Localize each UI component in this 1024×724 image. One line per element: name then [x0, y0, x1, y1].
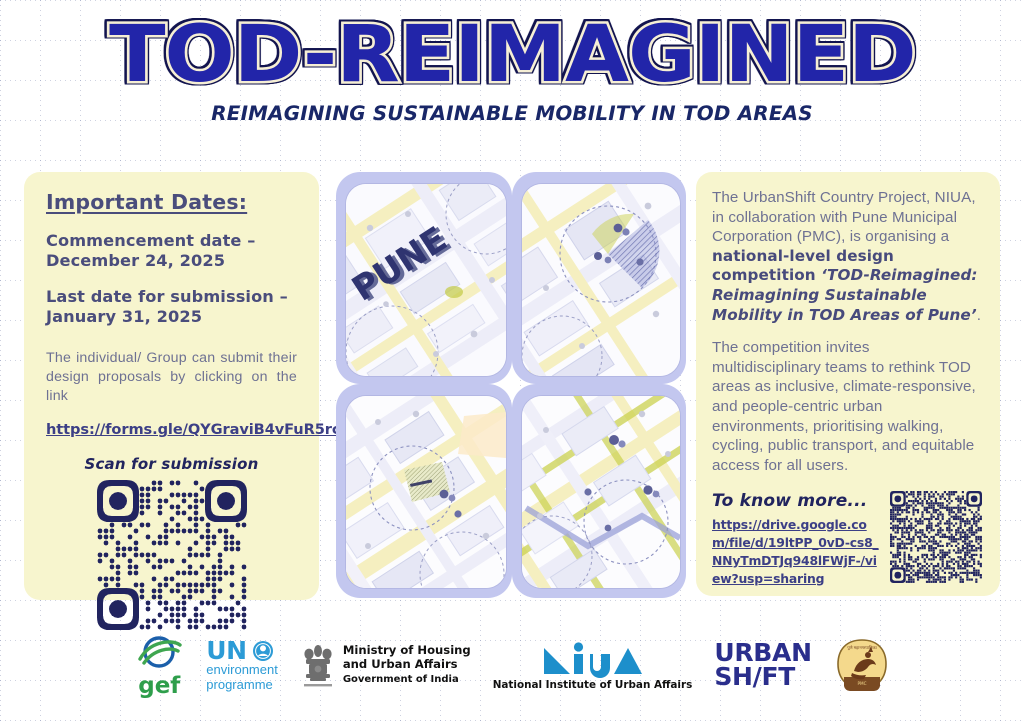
submission-form-qr-code[interactable]: [97, 480, 247, 630]
un-environment-programme-logo: UN environment programme: [206, 638, 278, 692]
about-paragraph-2: The competition invites multidisciplinar…: [712, 338, 982, 475]
tile-green-network-map[interactable]: [522, 396, 680, 588]
know-more-qr-code[interactable]: [890, 491, 982, 583]
tile-street-block-map[interactable]: [346, 396, 506, 588]
important-dates-panel: Important Dates: Commencement date – Dec…: [24, 172, 319, 600]
tod-radius-map-graphic: [522, 184, 680, 376]
submission-instructions: The individual/ Group can submit their d…: [46, 349, 297, 406]
state-emblem-of-india-icon: [300, 639, 336, 691]
pune-isometric-map-graphic: PUNE PUNE: [346, 184, 506, 376]
svg-text:PMC: PMC: [857, 681, 866, 686]
green-network-map-graphic: [522, 396, 680, 588]
gef-logo: gef: [134, 633, 184, 698]
ministry-of-housing-and-urban-affairs-logo: Ministry of Housing and Urban Affairs Go…: [300, 639, 471, 691]
important-dates-heading: Important Dates:: [46, 190, 297, 214]
ministry-line3: Government of India: [343, 674, 471, 686]
poster-header: TOD-REIMAGINED REIMAGINING SUSTAINABLE M…: [0, 18, 1024, 125]
partner-logos-bar: gef UN environment programme: [0, 626, 1024, 704]
un-logo-text: UN: [206, 638, 246, 663]
un-logo-line3: programme: [206, 678, 272, 692]
isometric-map-gallery: PUNE PUNE: [336, 170, 686, 600]
about-p1-text2: .: [977, 307, 981, 324]
page-subtitle: REIMAGINING SUSTAINABLE MOBILITY IN TOD …: [0, 102, 1024, 125]
ministry-line1: Ministry of Housing: [343, 644, 471, 658]
tile-pune-isometric[interactable]: PUNE PUNE: [346, 184, 506, 376]
ministry-line2: and Urban Affairs: [343, 658, 471, 672]
un-logo-line2: environment: [206, 663, 278, 677]
submission-deadline-value: January 31, 2025: [46, 307, 297, 327]
to-know-more-label: To know more...: [712, 491, 880, 511]
un-emblem-icon: [252, 640, 274, 662]
commencement-date-value: December 24, 2025: [46, 251, 297, 271]
submission-form-link[interactable]: https://forms.gle/QYGraviB4vFuR5rc9: [46, 421, 351, 438]
commencement-date-label: Commencement date –: [46, 231, 297, 251]
about-p1-text1: The UrbanShift Country Project, NIUA, in…: [712, 189, 976, 245]
street-block-map-graphic: [346, 396, 506, 588]
tile-tod-radius-map[interactable]: [522, 184, 680, 376]
page-title: TOD-REIMAGINED: [109, 18, 915, 93]
about-paragraph-1: The UrbanShift Country Project, NIUA, in…: [712, 188, 982, 325]
drive-document-link[interactable]: https://drive.google.com/file/d/19ltPP_0…: [712, 517, 879, 586]
submission-deadline-label: Last date for submission –: [46, 287, 297, 307]
gef-globe-icon: [134, 633, 184, 675]
pmc-crest-icon: पुणे महानगरपालिका PMC: [834, 637, 890, 693]
pune-municipal-corporation-logo: पुणे महानगरपालिका PMC: [834, 637, 890, 693]
urbanshift-logo: URBAN SH/FT: [714, 641, 811, 690]
niua-subtitle: National Institute of Urban Affairs: [493, 679, 693, 691]
about-competition-panel: The UrbanShift Country Project, NIUA, in…: [696, 172, 1000, 596]
gef-logo-text: gef: [138, 675, 180, 698]
niua-logo: National Institute of Urban Affairs: [493, 640, 693, 691]
niua-mark-icon: [540, 640, 646, 678]
urbanshift-line2: SH/FT: [714, 665, 795, 689]
scan-for-submission-label: Scan for submission: [46, 455, 297, 473]
